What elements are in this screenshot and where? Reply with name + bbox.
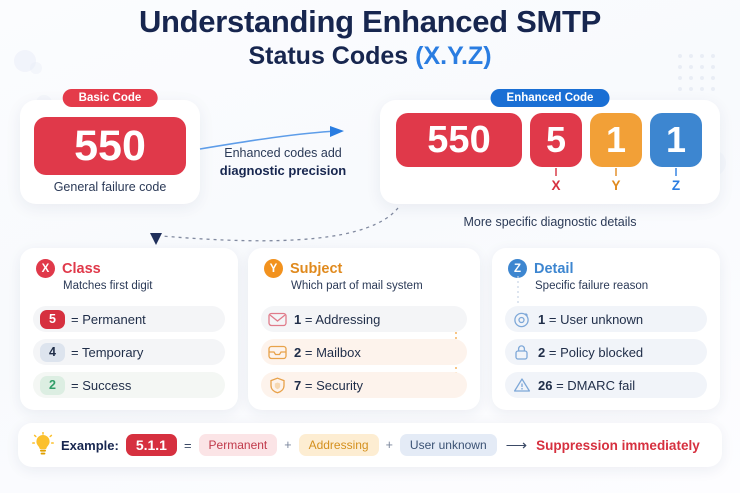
list-item[interactable]: 7 = Security — [261, 372, 467, 398]
xyz-tick-marks-icon — [540, 168, 720, 178]
panel-class-letter-badge: X — [36, 259, 55, 278]
enhanced-box-550: 550 — [396, 113, 522, 167]
example-result: Suppression immediately — [536, 438, 700, 453]
list-item[interactable]: 1 = Addressing — [261, 306, 467, 332]
class-row-1-text: = Temporary — [71, 345, 143, 360]
label-x: X — [546, 178, 566, 193]
example-arrow-icon: ⟶ — [504, 436, 530, 454]
subject-row-1-text: = Mailbox — [305, 345, 361, 360]
detail-row-1: 2 = Policy blocked — [538, 345, 643, 360]
list-item[interactable]: 1 = User unknown — [505, 306, 707, 332]
detail-row-0: 1 = User unknown — [538, 312, 643, 327]
class-row-1-num: 4 — [40, 343, 65, 362]
list-item[interactable]: 2 = Policy blocked — [505, 339, 707, 365]
basic-code-badge: Basic Code — [63, 89, 158, 107]
title-line-2-prefix: Status Codes — [248, 42, 415, 70]
panel-detail-rows: 1 = User unknown 2 = Policy blocked 26 =… — [505, 306, 707, 405]
example-bar: Example: 5.1.1 = Permanent + Addressing … — [18, 423, 722, 467]
panel-class-subtitle: Matches first digit — [63, 280, 152, 292]
panel-class: X Class Matches first digit 5 = Permanen… — [20, 248, 238, 410]
example-part-user-unknown: User unknown — [400, 434, 497, 456]
enhanced-code-badge: Enhanced Code — [491, 89, 610, 107]
subject-row-1-num: 2 — [294, 345, 301, 360]
example-equals: = — [184, 438, 192, 453]
enhanced-box-y: 1 — [590, 113, 642, 167]
example-label: Example: — [61, 438, 119, 453]
detail-row-0-num: 1 — [538, 312, 545, 327]
example-plus-1: + — [284, 438, 291, 452]
example-part-addressing: Addressing — [299, 434, 379, 456]
enhanced-box-x: 5 — [530, 113, 582, 167]
basic-code-caption: General failure code — [20, 180, 200, 194]
example-code: 5.1.1 — [126, 434, 177, 456]
subject-row-0-num: 1 — [294, 312, 301, 327]
lightbulb-icon — [32, 432, 54, 458]
middle-annotation-line-2: diagnostic precision — [220, 163, 346, 178]
enhanced-box-z: 1 — [650, 113, 702, 167]
label-z: Z — [666, 178, 686, 193]
detail-pin-line-icon — [516, 276, 520, 306]
shield-icon — [268, 376, 287, 395]
panel-class-title: Class — [62, 261, 101, 277]
lock-icon — [512, 343, 531, 362]
class-row-2-num: 2 — [40, 376, 65, 395]
middle-annotation-line-1: Enhanced codes add — [198, 144, 368, 162]
detail-row-2-text: = DMARC fail — [556, 378, 635, 393]
panel-subject-rows: 1 = Addressing 2 = Mailbox 7 = Security — [261, 306, 467, 405]
panel-detail-subtitle: Specific failure reason — [535, 280, 648, 292]
detail-row-2: 26 = DMARC fail — [538, 378, 635, 393]
panel-subject-letter-badge: Y — [264, 259, 283, 278]
class-row-0-text: = Permanent — [71, 312, 146, 327]
class-row-2-text: = Success — [71, 378, 131, 393]
subject-row-2-text: = Security — [305, 378, 363, 393]
panel-class-header: X Class — [36, 259, 101, 278]
subject-row-2: 7 = Security — [294, 378, 363, 393]
list-item[interactable]: 2 = Success — [33, 372, 225, 398]
title-line-2: Status Codes (X.Y.Z) — [0, 43, 740, 69]
subject-row-0-text: = Addressing — [305, 312, 381, 327]
middle-annotation: Enhanced codes add diagnostic precision — [198, 144, 368, 181]
subject-row-0: 1 = Addressing — [294, 312, 380, 327]
detail-row-0-text: = User unknown — [549, 312, 643, 327]
basic-code-card: Basic Code 550 General failure code — [20, 100, 200, 204]
warning-icon — [512, 376, 531, 395]
panel-subject-subtitle: Which part of mail system — [291, 280, 423, 292]
infographic-canvas: Understanding Enhanced SMTP Status Codes… — [0, 0, 740, 493]
list-item[interactable]: 5 = Permanent — [33, 306, 225, 332]
label-y: Y — [606, 178, 626, 193]
detail-row-1-num: 2 — [538, 345, 545, 360]
list-item[interactable]: 26 = DMARC fail — [505, 372, 707, 398]
enhanced-code-caption: More specific diagnostic details — [380, 215, 720, 229]
title-xyz-highlight: (X.Y.Z) — [415, 42, 491, 70]
example-plus-2: + — [386, 438, 393, 452]
panel-detail: Z Detail Specific failure reason 1 = Use… — [492, 248, 720, 410]
subject-row-2-num: 7 — [294, 378, 301, 393]
basic-code-value: 550 — [34, 117, 186, 175]
panel-subject-title: Subject — [290, 261, 342, 277]
panel-detail-title: Detail — [534, 261, 574, 277]
target-icon — [512, 310, 531, 329]
list-item[interactable]: 2 = Mailbox — [261, 339, 467, 365]
detail-row-2-num: 26 — [538, 378, 552, 393]
list-item[interactable]: 4 = Temporary — [33, 339, 225, 365]
envelope-icon — [268, 310, 287, 329]
class-row-0-num: 5 — [40, 310, 65, 329]
page-title: Understanding Enhanced SMTP Status Codes… — [0, 6, 740, 69]
panel-subject-header: Y Subject — [264, 259, 342, 278]
panel-subject: Y Subject Which part of mail system 1 = … — [248, 248, 480, 410]
inbox-icon — [268, 343, 287, 362]
dashed-connector-to-class — [140, 200, 410, 250]
example-part-permanent: Permanent — [199, 434, 278, 456]
subject-row-1: 2 = Mailbox — [294, 345, 361, 360]
detail-row-1-text: = Policy blocked — [549, 345, 643, 360]
panel-class-rows: 5 = Permanent 4 = Temporary 2 = Success — [33, 306, 225, 405]
title-line-1: Understanding Enhanced SMTP — [0, 6, 740, 39]
